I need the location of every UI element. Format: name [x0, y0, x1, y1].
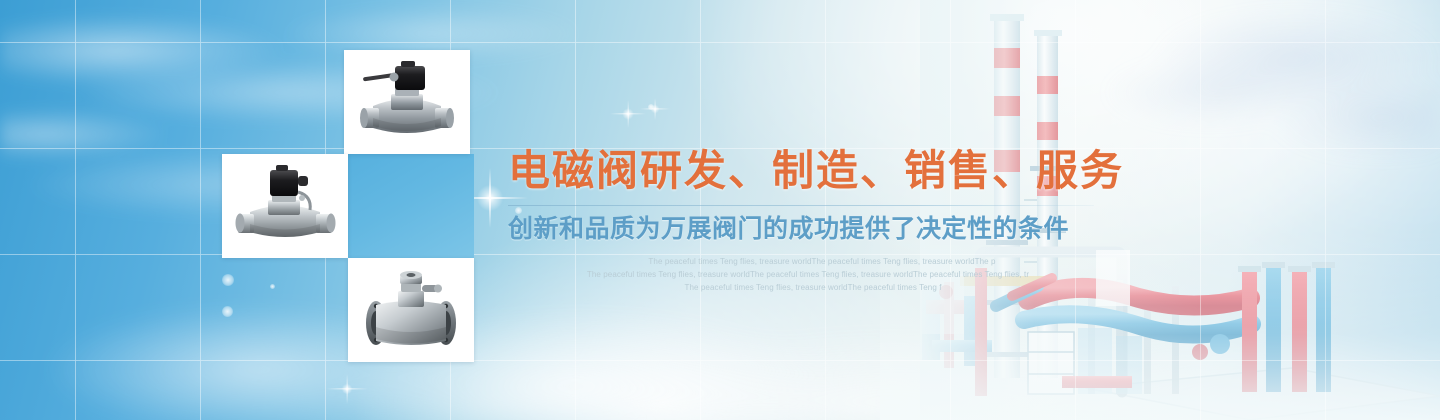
product-image-threaded-solenoid-valve-angled [344, 50, 470, 154]
product-thumbnail[interactable] [222, 154, 348, 258]
accent-tile [348, 154, 474, 258]
headline-divider [508, 205, 1094, 206]
product-thumbnail[interactable] [348, 258, 474, 362]
banner-fineprint: The peaceful times Teng flies, treasure … [508, 256, 1108, 293]
hero-banner: 电磁阀研发、制造、销售、服务 创新和品质为万展阀门的成功提供了决定性的条件 Th… [0, 0, 1440, 420]
fineprint-line: The peaceful times Teng flies, treasure … [508, 269, 1108, 280]
product-thumbnail[interactable] [344, 50, 470, 154]
banner-copy: 电磁阀研发、制造、销售、服务 创新和品质为万展阀门的成功提供了决定性的条件 Th… [508, 148, 1108, 295]
banner-headline: 电磁阀研发、制造、销售、服务 [508, 148, 1108, 193]
equipment-skid [1028, 328, 1142, 394]
product-image-threaded-solenoid-valve-front [222, 154, 348, 258]
fineprint-line: The peaceful times Teng flies, treasure … [508, 282, 1108, 293]
fineprint-line: The peaceful times Teng flies, treasure … [508, 256, 1108, 267]
banner-subheadline: 创新和品质为万展阀门的成功提供了决定性的条件 [508, 214, 1108, 244]
product-image-flanged-solenoid-valve [348, 258, 474, 362]
